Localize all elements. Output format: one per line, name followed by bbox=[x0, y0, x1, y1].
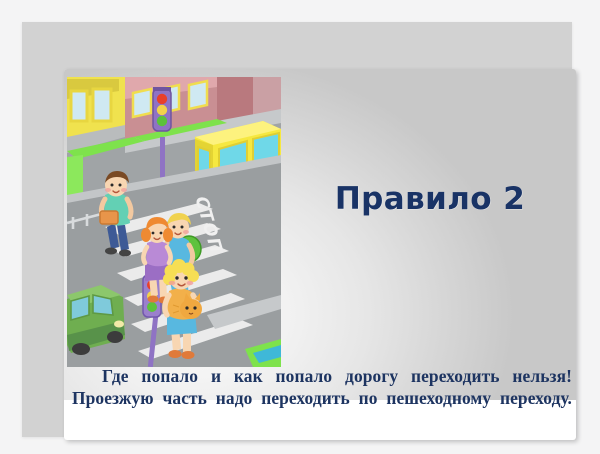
slide-body-text: Где попало и как попало дорогу переходит… bbox=[72, 366, 572, 431]
slide-content-area: СТОП bbox=[64, 69, 576, 400]
slide-outer-frame: СТОП bbox=[22, 22, 572, 437]
page-title: Правило 2 bbox=[288, 181, 572, 217]
presentation-slide[interactable]: СТОП bbox=[64, 69, 576, 440]
children-crossing-street-illustration: СТОП bbox=[67, 77, 281, 367]
